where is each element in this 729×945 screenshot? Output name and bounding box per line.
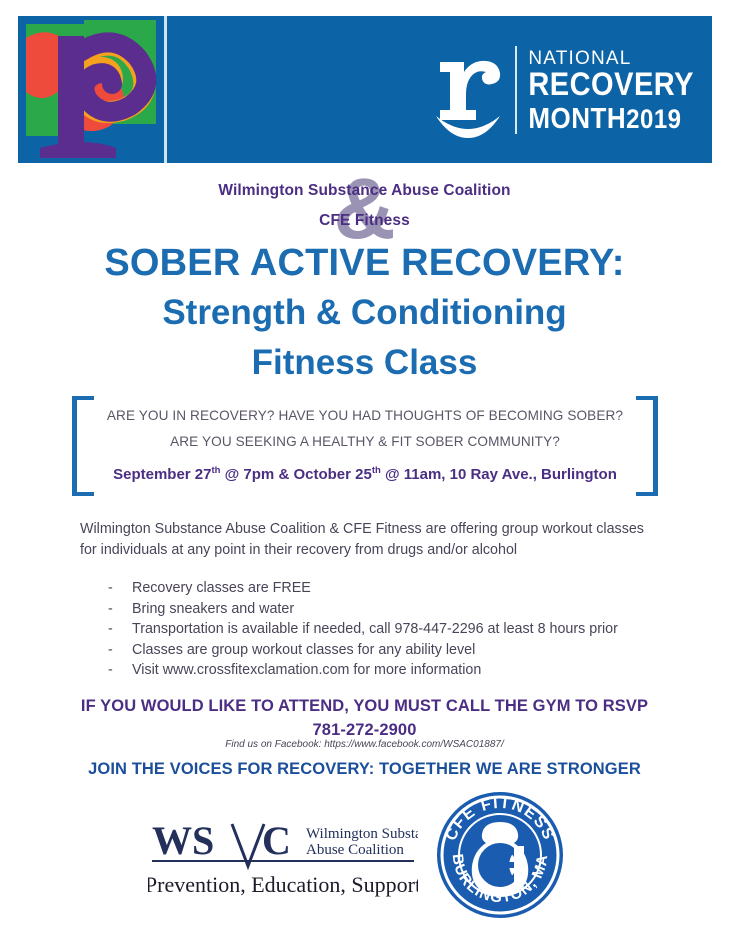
bullet-dash-icon: -: [108, 619, 114, 640]
callout-box: ARE YOU IN RECOVERY? HAVE YOU HAD THOUGH…: [72, 396, 658, 496]
svg-text:Wilmington Substance: Wilmington Substance: [306, 826, 418, 842]
callout-question-2: ARE YOU SEEKING A HEALTHY & FIT SOBER CO…: [94, 429, 636, 455]
list-item: -Visit www.crossfitexclamation.com for m…: [108, 660, 668, 681]
organizations-block: & Wilmington Substance Abuse Coalition C…: [0, 176, 729, 242]
cfe-fitness-logo: CFE FITNESS BURLINGTON, MA: [430, 788, 570, 923]
title-line-2: Strength & Conditioning: [0, 288, 729, 338]
svg-text:C: C: [262, 818, 291, 863]
bullet-dash-icon: -: [108, 578, 114, 599]
recovery-r-smile-icon: [432, 42, 504, 138]
nrm-line-month-year: MONTH2019: [528, 103, 694, 133]
date-part-3: @ 11am, 10 Ray Ave., Burlington: [381, 466, 617, 483]
svg-text:WS: WS: [152, 818, 214, 863]
org-name-cfe: CFE Fitness: [0, 206, 729, 236]
banner-divider: [164, 16, 167, 163]
title-line-3: Fitness Class: [0, 338, 729, 388]
list-item: -Classes are group workout classes for a…: [108, 640, 668, 661]
rsvp-block: IF YOU WOULD LIKE TO ATTEND, YOU MUST CA…: [0, 694, 729, 742]
org-name-coalition: Wilmington Substance Abuse Coalition: [0, 176, 729, 206]
nrm-month: MONTH: [528, 101, 626, 135]
list-item: -Bring sneakers and water: [108, 599, 668, 620]
svg-text:Prevention, Education, Support: Prevention, Education, Support: [148, 872, 418, 897]
bracket-left-icon: [72, 396, 94, 496]
bullet-dash-icon: -: [108, 599, 114, 620]
bullet-dash-icon: -: [108, 640, 114, 661]
list-item-text: Classes are group workout classes for an…: [132, 640, 475, 661]
callout-content: ARE YOU IN RECOVERY? HAVE YOU HAD THOUGH…: [94, 396, 636, 496]
rsvp-instruction: IF YOU WOULD LIKE TO ATTEND, YOU MUST CA…: [0, 694, 729, 718]
national-recovery-month-text: NATIONAL RECOVERY MONTH2019: [528, 49, 694, 132]
logo-divider-rule: [515, 46, 517, 134]
body-paragraph: Wilmington Substance Abuse Coalition & C…: [80, 519, 660, 561]
nrm-line-recovery: RECOVERY: [528, 69, 694, 101]
list-item-text: Visit www.crossfitexclamation.com for mo…: [132, 660, 481, 681]
nrm-line-national: NATIONAL: [528, 49, 694, 68]
bracket-right-icon: [636, 396, 658, 496]
footer-logos: WS C Wilmington Substance Abuse Coalitio…: [0, 788, 729, 923]
flyer-page: NATIONAL RECOVERY MONTH2019 & Wilmington…: [0, 0, 729, 945]
list-item-text: Recovery classes are FREE: [132, 578, 311, 599]
svg-text:Abuse Coalition: Abuse Coalition: [306, 842, 404, 858]
date-ordinal-2: th: [372, 465, 381, 476]
nrm-year: 2019: [626, 104, 681, 134]
facebook-link[interactable]: Find us on Facebook: https://www.faceboo…: [0, 739, 729, 750]
date-part-2: @ 7pm & October 25: [220, 466, 371, 483]
details-list: -Recovery classes are FREE -Bring sneake…: [108, 578, 668, 681]
list-item-text: Transportation is available if needed, c…: [132, 619, 618, 640]
recovery-month-colorful-r-logo: [18, 16, 164, 163]
campaign-tagline: JOIN THE VOICES FOR RECOVERY: TOGETHER W…: [0, 760, 729, 779]
bullet-dash-icon: -: [108, 660, 114, 681]
wsac-logo: WS C Wilmington Substance Abuse Coalitio…: [148, 814, 418, 909]
list-item-text: Bring sneakers and water: [132, 599, 294, 620]
date-part-1: September 27: [113, 466, 211, 483]
header-banner: NATIONAL RECOVERY MONTH2019: [18, 16, 712, 163]
national-recovery-month-logo: NATIONAL RECOVERY MONTH2019: [432, 38, 694, 142]
callout-date-line: September 27th @ 7pm & October 25th @ 11…: [94, 457, 636, 489]
list-item: -Recovery classes are FREE: [108, 578, 668, 599]
callout-question-1: ARE YOU IN RECOVERY? HAVE YOU HAD THOUGH…: [94, 403, 636, 429]
page-title: SOBER ACTIVE RECOVERY: Strength & Condit…: [0, 238, 729, 388]
list-item: -Transportation is available if needed, …: [108, 619, 668, 640]
